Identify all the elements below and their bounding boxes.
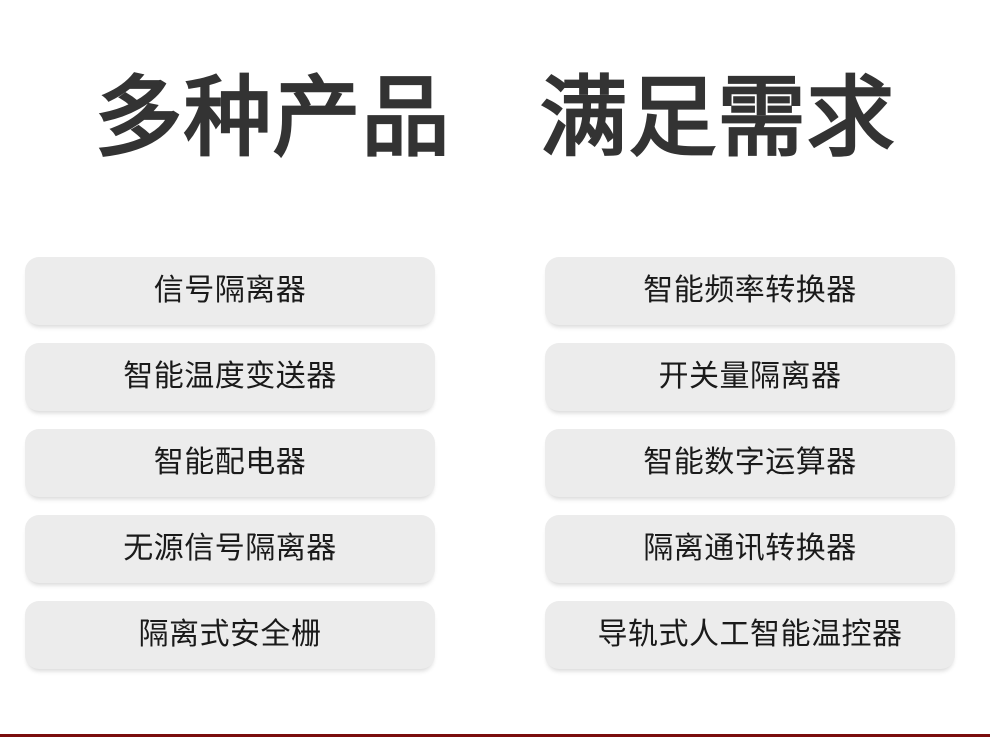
product-label: 智能频率转换器 xyxy=(643,275,857,307)
product-item[interactable]: 开关量隔离器 xyxy=(545,343,955,411)
page-title: 多种产品 满足需求 xyxy=(0,68,990,168)
product-item[interactable]: 隔离通讯转换器 xyxy=(545,515,955,583)
product-label: 导轨式人工智能温控器 xyxy=(598,619,903,651)
product-label: 隔离通讯转换器 xyxy=(643,533,857,565)
bottom-divider xyxy=(0,734,990,737)
product-item[interactable]: 智能温度变送器 xyxy=(25,343,435,411)
product-item[interactable]: 隔离式安全栅 xyxy=(25,601,435,669)
product-list-page: 多种产品 满足需求 信号隔离器 智能温度变送器 智能配电器 无源信号隔离器 隔离… xyxy=(0,0,990,740)
product-label: 信号隔离器 xyxy=(154,275,307,307)
product-label: 智能配电器 xyxy=(154,447,307,479)
product-item[interactable]: 智能数字运算器 xyxy=(545,429,955,497)
product-item[interactable]: 信号隔离器 xyxy=(25,257,435,325)
product-item[interactable]: 智能配电器 xyxy=(25,429,435,497)
product-label: 隔离式安全栅 xyxy=(139,619,322,651)
product-label: 智能温度变送器 xyxy=(123,361,337,393)
product-label: 开关量隔离器 xyxy=(659,361,842,393)
product-label: 无源信号隔离器 xyxy=(123,533,337,565)
product-item[interactable]: 智能频率转换器 xyxy=(545,257,955,325)
product-item[interactable]: 导轨式人工智能温控器 xyxy=(545,601,955,669)
product-columns: 信号隔离器 智能温度变送器 智能配电器 无源信号隔离器 隔离式安全栅 智能频率转… xyxy=(0,257,990,669)
product-column-left: 信号隔离器 智能温度变送器 智能配电器 无源信号隔离器 隔离式安全栅 xyxy=(25,257,435,669)
product-column-right: 智能频率转换器 开关量隔离器 智能数字运算器 隔离通讯转换器 导轨式人工智能温控… xyxy=(545,257,955,669)
product-item[interactable]: 无源信号隔离器 xyxy=(25,515,435,583)
product-label: 智能数字运算器 xyxy=(643,447,857,479)
